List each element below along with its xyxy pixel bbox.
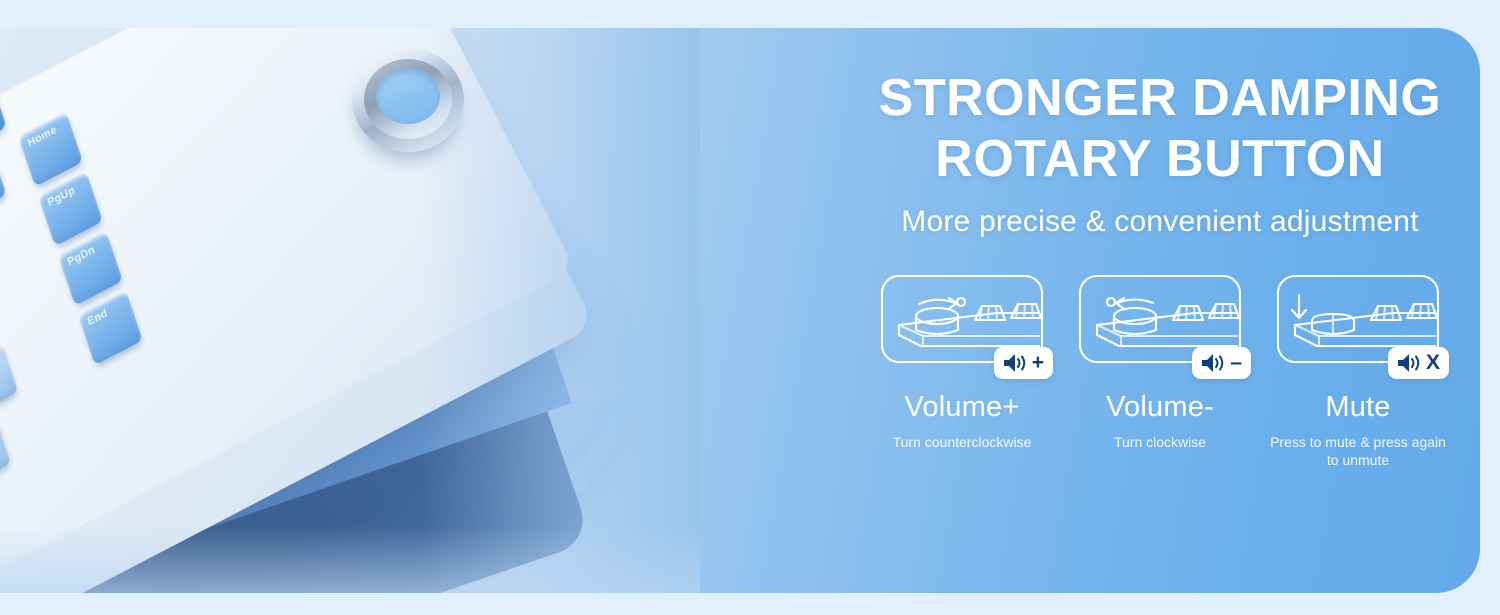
promo-banner: F10 F11 F12 Delete ) — + ← Backspace P {…: [0, 28, 1480, 593]
subheadline: More precise & convenient adjustment: [840, 205, 1480, 239]
keycap: ← Backspace: [0, 147, 7, 249]
feature-figure: +: [879, 273, 1045, 365]
headline-line-1: STRONGER DAMPING: [840, 68, 1480, 129]
headline: STRONGER DAMPING ROTARY BUTTON: [840, 68, 1480, 191]
feature-mute: X Mute Press to mute & press again to un…: [1270, 273, 1446, 471]
feature-title: Volume+: [874, 391, 1050, 424]
photo-right-fade: [420, 28, 700, 593]
mute-sign: X: [1426, 352, 1440, 373]
volume-down-badge: –: [1192, 347, 1251, 379]
mute-badge: X: [1388, 347, 1449, 379]
keycap: PgUp: [38, 171, 103, 246]
feature-figure: X: [1275, 273, 1441, 365]
keycap: Delete: [0, 79, 7, 156]
volume-up-sign: +: [1032, 352, 1044, 373]
headline-line-2: ROTARY BUTTON: [840, 129, 1480, 190]
feature-volume-up: + Volume+ Turn counterclockwise: [874, 273, 1050, 471]
speaker-icon: [1396, 352, 1422, 374]
banner-content: STRONGER DAMPING ROTARY BUTTON More prec…: [840, 28, 1480, 593]
keycap: PgDn: [58, 231, 123, 306]
volume-up-badge: +: [994, 347, 1053, 379]
feature-title: Volume-: [1072, 391, 1248, 424]
keycap: Home: [18, 112, 83, 187]
feature-title: Mute: [1270, 391, 1446, 424]
keycap: End: [78, 290, 143, 365]
feature-list: + Volume+ Turn counterclockwise: [840, 273, 1480, 471]
volume-down-sign: –: [1230, 352, 1242, 373]
keycap: →: [0, 415, 11, 487]
feature-description: Turn counterclockwise: [874, 433, 1050, 452]
photo-bottom-fade: [0, 525, 700, 593]
feature-volume-down: – Volume- Turn clockwise: [1072, 273, 1248, 471]
feature-description: Press to mute & press again to unmute: [1270, 433, 1446, 471]
product-photo: F10 F11 F12 Delete ) — + ← Backspace P {…: [0, 28, 700, 593]
speaker-icon: [1200, 352, 1226, 374]
keycap: ↑: [0, 344, 18, 416]
feature-figure: –: [1077, 273, 1243, 365]
feature-description: Turn clockwise: [1072, 433, 1248, 452]
speaker-icon: [1002, 352, 1028, 374]
